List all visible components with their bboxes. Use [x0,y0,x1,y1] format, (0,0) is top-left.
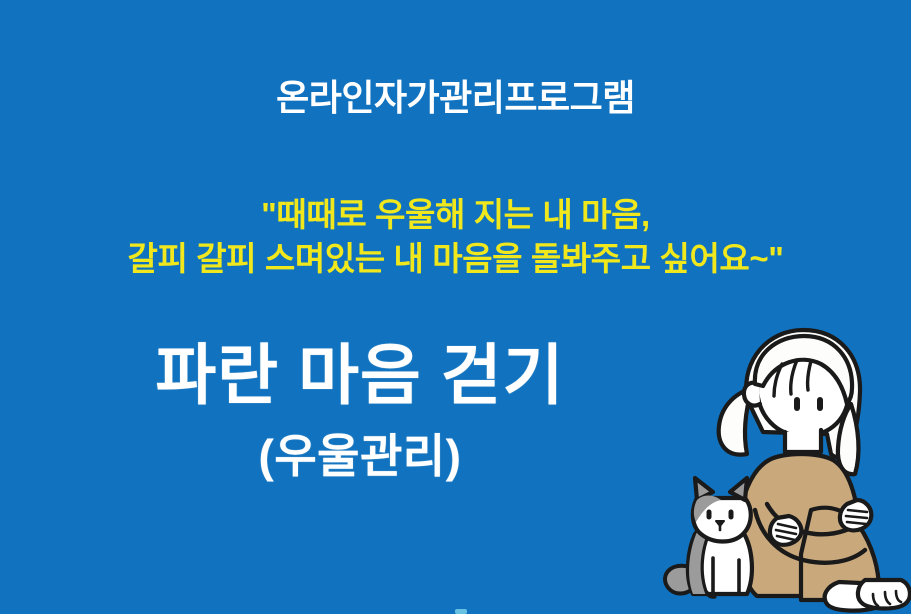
quote-block: "때때로 우울해 지는 내 마음, 갈피 갈피 스며있는 내 마음을 돌봐주고 … [0,193,911,280]
quote-line-1: "때때로 우울해 지는 내 마음, [0,193,911,237]
main-heading: 파란 마음 걷기 [0,340,720,411]
hand-right [840,500,871,530]
poster-canvas: 온라인자가관리프로그램 "때때로 우울해 지는 내 마음, 갈피 갈피 스며있는… [0,0,911,614]
program-title: 온라인자가관리프로그램 [0,78,911,118]
hand-left [770,516,801,545]
illustration-woman-with-cat [651,314,911,614]
neck-shape [785,430,821,452]
bottom-artifact [455,609,467,614]
sub-heading: (우울관리) [0,431,720,482]
quote-line-2: 갈피 갈피 스며있는 내 마음을 돌봐주고 싶어요~" [0,237,911,281]
woman-with-cat-graphic [651,314,911,614]
